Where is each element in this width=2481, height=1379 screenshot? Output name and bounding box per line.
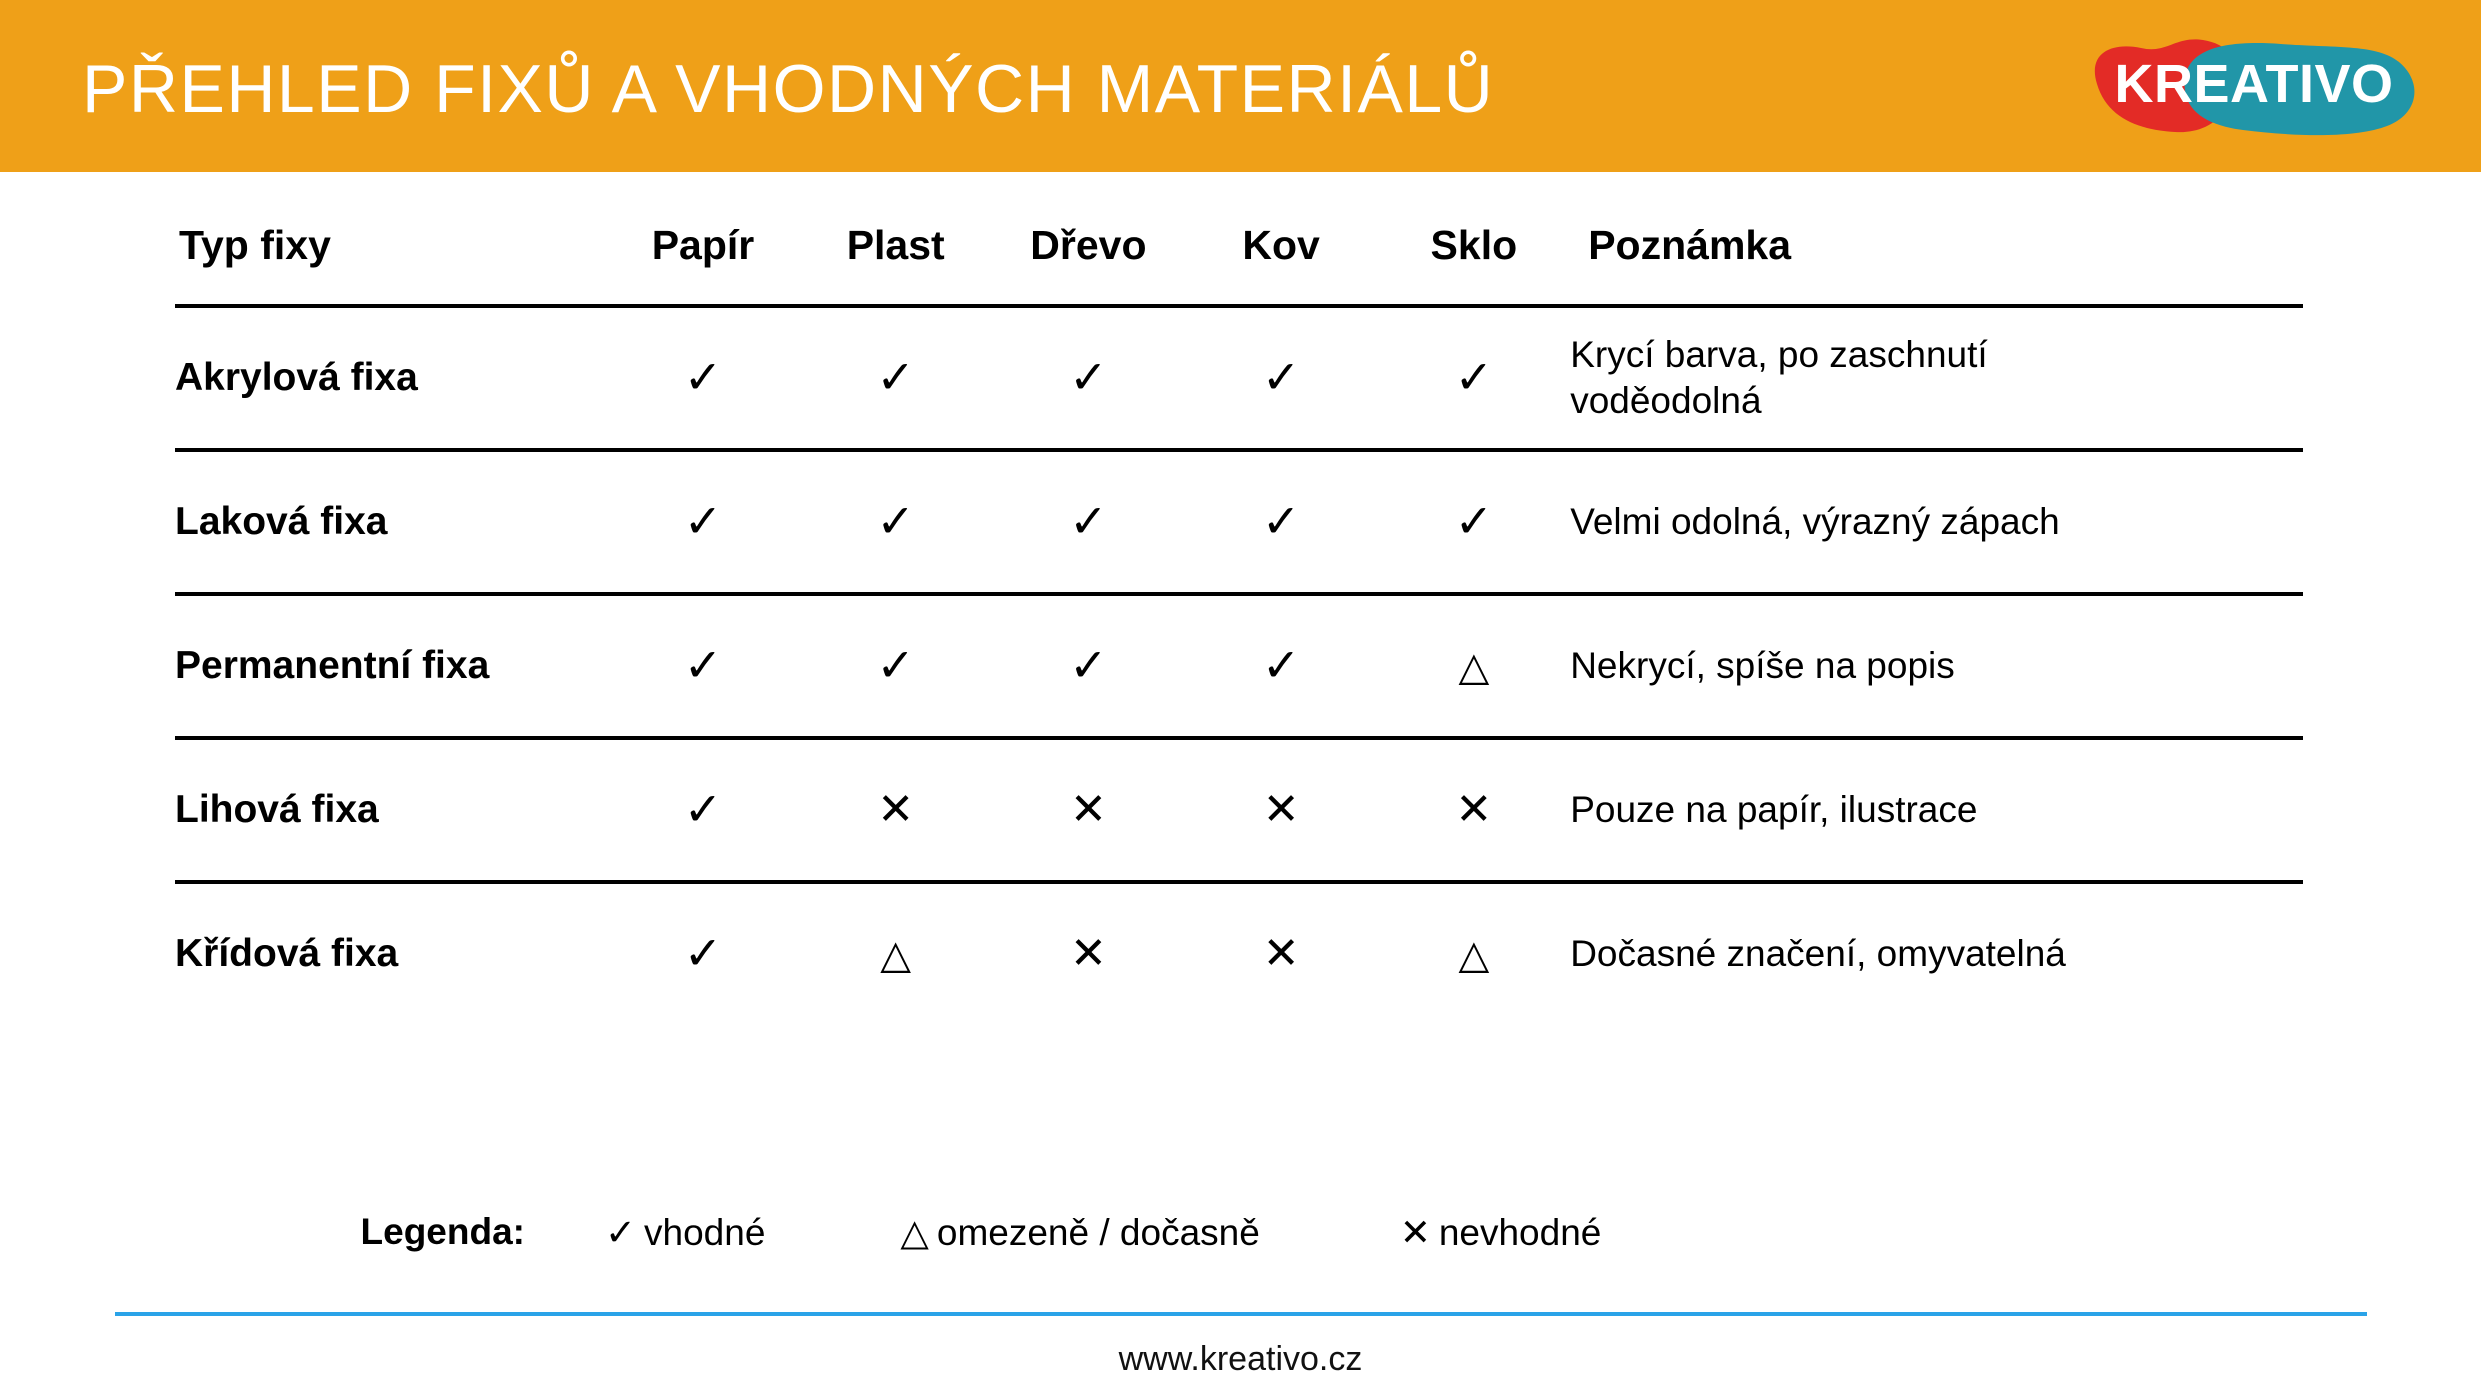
check-icon: ✓ [1069, 639, 1108, 691]
legend-item-omezene: △omezeně / dočasně [900, 1211, 1259, 1254]
column-header-kov: Kov [1185, 200, 1378, 306]
cell-permanentni-plast: ✓ [799, 594, 992, 738]
legend-item-omezene-label: omezeně / dočasně [937, 1212, 1260, 1253]
column-header-drevo: Dřevo [992, 200, 1185, 306]
cell-lihova-kov: ✕ [1185, 738, 1378, 882]
triangle-icon: △ [880, 933, 911, 977]
column-header-plast: Plast [799, 200, 992, 306]
note-line-2: voděodolná [1570, 378, 2303, 424]
cell-kridova-plast: △ [799, 882, 992, 1024]
check-icon: ✓ [1262, 351, 1301, 403]
legend-item-vhodne-label: vhodné [644, 1212, 765, 1253]
cell-lihova-plast: ✕ [799, 738, 992, 882]
cell-lakova-note: Velmi odolná, výrazný zápach [1570, 450, 2303, 594]
cell-akrylova-sklo: ✓ [1377, 306, 1570, 450]
check-icon: ✓ [1069, 351, 1108, 403]
check-icon: ✓ [684, 783, 723, 835]
cell-permanentni-drevo: ✓ [992, 594, 1185, 738]
cell-permanentni-papir: ✓ [607, 594, 800, 738]
footer-divider [115, 1312, 2367, 1316]
triangle-icon: △ [1458, 933, 1489, 977]
check-icon: ✓ [684, 351, 723, 403]
cell-akrylova-kov: ✓ [1185, 306, 1378, 450]
cross-icon: ✕ [1070, 929, 1107, 978]
cross-icon: ✕ [1263, 785, 1300, 834]
column-header-type: Typ fixy [175, 200, 607, 306]
table-row: Laková fixa ✓ ✓ ✓ ✓ ✓ Velmi odolná, výra… [175, 450, 2303, 594]
marker-materials-table: Typ fixy Papír Plast Dřevo Kov Sklo Pozn… [175, 200, 2303, 1024]
table-row: Lihová fixa ✓ ✕ ✕ ✕ ✕ Pouze na papír, il… [175, 738, 2303, 882]
header-band: PŘEHLED FIXŮ A VHODNÝCH MATERIÁLŮ KREATI… [0, 0, 2481, 172]
cell-lakova-kov: ✓ [1185, 450, 1378, 594]
cell-kridova-kov: ✕ [1185, 882, 1378, 1024]
cell-lakova-sklo: ✓ [1377, 450, 1570, 594]
cell-kridova-drevo: ✕ [992, 882, 1185, 1024]
table-row: Křídová fixa ✓ △ ✕ ✕ △ Dočasné značení, … [175, 882, 2303, 1024]
table-row: Akrylová fixa ✓ ✓ ✓ ✓ ✓ Krycí barva, po … [175, 306, 2303, 450]
cross-icon: ✕ [1263, 929, 1300, 978]
column-header-poznamka: Poznámka [1570, 200, 2303, 306]
table-row: Permanentní fixa ✓ ✓ ✓ ✓ △ Nekrycí, spíš… [175, 594, 2303, 738]
cell-akrylova-drevo: ✓ [992, 306, 1185, 450]
page-title: PŘEHLED FIXŮ A VHODNÝCH MATERIÁLŮ [82, 50, 1494, 128]
check-icon: ✓ [605, 1212, 644, 1253]
check-icon: ✓ [876, 351, 915, 403]
legend-item-vhodne: ✓vhodné [605, 1211, 765, 1254]
logo-wordmark: KREATIVO [2067, 18, 2435, 150]
triangle-icon: △ [1458, 645, 1489, 689]
kreativo-logo[interactable]: KREATIVO [2067, 18, 2435, 150]
cross-icon: ✕ [877, 785, 914, 834]
content-sheet: Typ fixy Papír Plast Dřevo Kov Sklo Pozn… [0, 172, 2481, 1241]
note-line-1: Pouze na papír, ilustrace [1570, 787, 2303, 833]
row-label-akrylova: Akrylová fixa [175, 306, 607, 450]
table-header-row: Typ fixy Papír Plast Dřevo Kov Sklo Pozn… [175, 200, 2303, 306]
note-line-1: Krycí barva, po zaschnutí [1570, 332, 2303, 378]
cell-lakova-plast: ✓ [799, 450, 992, 594]
check-icon: ✓ [1455, 351, 1494, 403]
cell-lihova-sklo: ✕ [1377, 738, 1570, 882]
cell-akrylova-note: Krycí barva, po zaschnutí voděodolná [1570, 306, 2303, 450]
footer-website-url[interactable]: www.kreativo.cz [0, 1340, 2481, 1379]
check-icon: ✓ [1262, 639, 1301, 691]
row-label-kridova: Křídová fixa [175, 882, 607, 1024]
cell-permanentni-sklo: △ [1377, 594, 1570, 738]
cell-lihova-papir: ✓ [607, 738, 800, 882]
cell-akrylova-plast: ✓ [799, 306, 992, 450]
triangle-icon: △ [900, 1212, 936, 1253]
cell-lihova-drevo: ✕ [992, 738, 1185, 882]
column-header-papir: Papír [607, 200, 800, 306]
cell-kridova-note: Dočasné značení, omyvatelná [1570, 882, 2303, 1024]
row-label-lakova: Laková fixa [175, 450, 607, 594]
legend-item-nevhodne: ✕nevhodné [1400, 1211, 1602, 1254]
cell-kridova-papir: ✓ [607, 882, 800, 1024]
cell-kridova-sklo: △ [1377, 882, 1570, 1024]
legend-item-nevhodne-label: nevhodné [1439, 1212, 1602, 1253]
cell-lakova-drevo: ✓ [992, 450, 1185, 594]
row-label-lihova: Lihová fixa [175, 738, 607, 882]
check-icon: ✓ [1069, 495, 1108, 547]
check-icon: ✓ [1455, 495, 1494, 547]
check-icon: ✓ [684, 495, 723, 547]
check-icon: ✓ [876, 495, 915, 547]
cell-permanentni-note: Nekrycí, spíše na popis [1570, 594, 2303, 738]
legend: Legenda: ✓vhodné △omezeně / dočasně ✕nev… [175, 1202, 2303, 1262]
check-icon: ✓ [684, 927, 723, 979]
check-icon: ✓ [876, 639, 915, 691]
column-header-sklo: Sklo [1377, 200, 1570, 306]
note-line-1: Nekrycí, spíše na popis [1570, 643, 2303, 689]
check-icon: ✓ [684, 639, 723, 691]
legend-label: Legenda: [175, 1211, 525, 1253]
row-label-permanentni: Permanentní fixa [175, 594, 607, 738]
note-line-1: Dočasné značení, omyvatelná [1570, 931, 2303, 977]
cross-icon: ✕ [1400, 1212, 1439, 1253]
cell-lihova-note: Pouze na papír, ilustrace [1570, 738, 2303, 882]
cell-permanentni-kov: ✓ [1185, 594, 1378, 738]
note-line-1: Velmi odolná, výrazný zápach [1570, 499, 2303, 545]
check-icon: ✓ [1262, 495, 1301, 547]
cell-lakova-papir: ✓ [607, 450, 800, 594]
cross-icon: ✕ [1455, 785, 1492, 834]
cross-icon: ✕ [1070, 785, 1107, 834]
cell-akrylova-papir: ✓ [607, 306, 800, 450]
